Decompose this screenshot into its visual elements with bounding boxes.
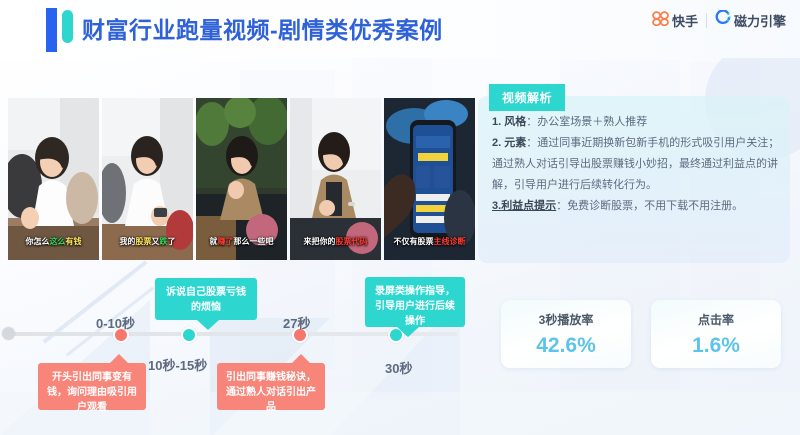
timeline-bubble-secret: 引出同事赚钱秘诀，通过熟人对话引出产品: [217, 363, 325, 410]
bubble-tail: [197, 320, 219, 330]
metric-value: 42.6%: [536, 334, 596, 358]
page-title: 财富行业跑量视频-剧情类优秀案例: [82, 11, 443, 45]
analysis-line-2: 2. 元素：通过同事近期换新包新手机的形式吸引用户关注；通过熟人对话引导出股票赚…: [492, 133, 783, 196]
header-bar: 财富行业跑量视频-剧情类优秀案例 快手: [0, 0, 800, 58]
metric-label: 点击率: [698, 311, 734, 328]
brand-logos: 快手 磁力引擎: [652, 10, 786, 31]
bubble-tail: [110, 354, 128, 363]
metric-3s-play-rate: 3秒播放率 42.6%: [501, 300, 631, 368]
video-frame-2[interactable]: 我的股票又跌了: [102, 98, 193, 260]
time-label-30s: 30秒: [385, 358, 412, 377]
bubble-text: 诉说自己股票亏钱的烦恼: [166, 287, 246, 313]
timeline-bubble-screen: 录屏类操作指导，引导用户进行后续操作: [365, 277, 465, 327]
timeline-bubble-loss: 诉说自己股票亏钱的烦恼: [155, 278, 257, 320]
video-analysis-body: 1. 风格：办公室场景＋熟人推荐 2. 元素：通过同事近期换新包新手机的形式吸引…: [492, 112, 783, 218]
brand-divider: [706, 13, 707, 28]
timeline-dot-10-15s[interactable]: [181, 327, 197, 343]
kuaishou-logo-icon: [652, 11, 669, 31]
video-frame-5[interactable]: 不仅有股票主线诊断: [384, 98, 475, 260]
timeline-bubble-opening: 开头引出同事变有钱，询问理由吸引用户观看: [38, 363, 146, 410]
slide-canvas: 财富行业跑量视频-剧情类优秀案例 快手: [0, 0, 800, 435]
video-frame-2-caption: 我的股票又跌了: [102, 238, 193, 247]
metric-label: 3秒播放率: [539, 311, 594, 328]
video-frame-4-caption: 来把你的股票代码: [290, 238, 381, 247]
video-frame-1-caption: 你怎么这么有钱: [8, 238, 99, 247]
kuaishou-label: 快手: [672, 11, 698, 30]
time-label-0-10s: 0-10秒: [96, 313, 135, 332]
time-label-27s: 27秒: [283, 313, 310, 332]
video-frame-4[interactable]: 来把你的股票代码: [290, 98, 381, 260]
magnetic-engine-label: 磁力引擎: [734, 11, 786, 30]
video-frame-1[interactable]: 你怎么这么有钱: [8, 98, 99, 260]
timeline-dot-start[interactable]: [2, 327, 15, 340]
bubble-text: 开头引出同事变有钱，询问理由吸引用户观看: [47, 372, 137, 413]
video-frames-strip: 你怎么这么有钱 我的股票又跌了: [8, 98, 475, 260]
analysis-line-3: 3.利益点提示：免费诊断股票，不用下载不用注册。: [492, 196, 783, 217]
video-frame-3-caption: 就赚了那么一些吧: [196, 238, 287, 247]
bubble-tail: [397, 327, 419, 337]
video-frame-5-caption: 不仅有股票主线诊断: [384, 238, 475, 247]
magnetic-engine-logo-icon: [715, 10, 731, 31]
accent-bar-blue: [46, 8, 57, 52]
bubble-tail: [292, 354, 310, 363]
video-analysis-badge: 视频解析: [489, 84, 565, 111]
bubble-text: 录屏类操作指导，引导用户进行后续操作: [375, 286, 455, 327]
video-frame-3[interactable]: 就赚了那么一些吧: [196, 98, 287, 260]
magnetic-engine-brand: 磁力引擎: [715, 10, 786, 31]
metric-click-rate: 点击率 1.6%: [651, 300, 781, 368]
analysis-line-1: 1. 风格：办公室场景＋熟人推荐: [492, 112, 783, 133]
metric-value: 1.6%: [692, 334, 740, 358]
accent-bar-teal: [62, 10, 73, 43]
time-label-10-15s: 10秒-15秒: [148, 355, 207, 374]
bubble-text: 引出同事赚钱秘诀，通过熟人对话引出产品: [226, 372, 316, 413]
kuaishou-brand: 快手: [652, 11, 698, 31]
